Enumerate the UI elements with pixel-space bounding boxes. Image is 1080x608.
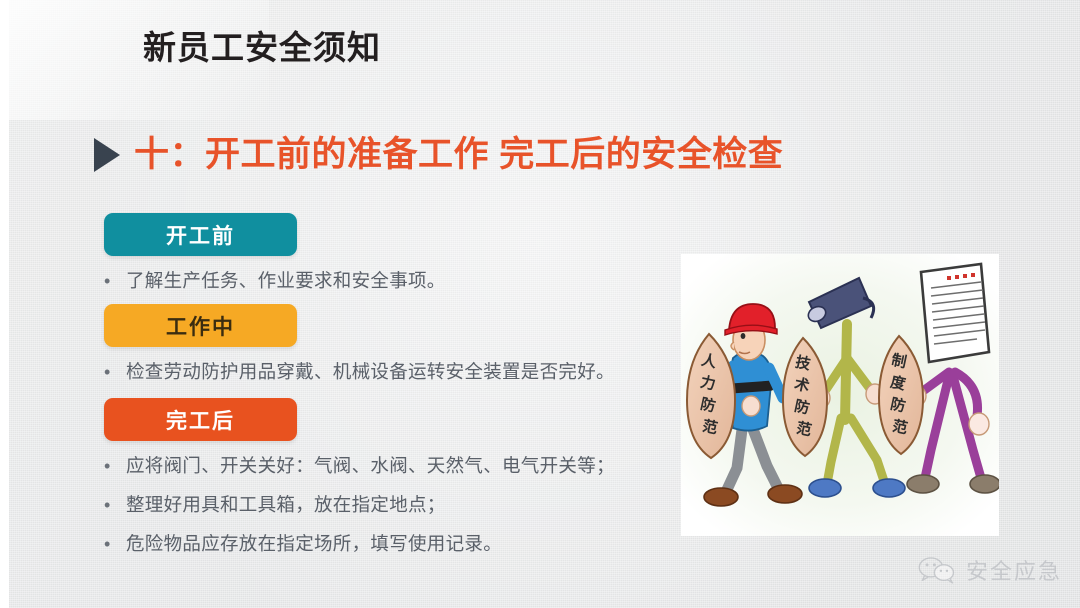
triangle-right-icon xyxy=(94,138,120,172)
badge-before-work-label: 开工前 xyxy=(166,220,235,250)
watermark: 安全应急 xyxy=(918,554,1062,586)
list-item: • 危险物品应存放在指定场所，填写使用记录。 xyxy=(104,531,502,557)
badge-during-work-label: 工作中 xyxy=(166,311,235,341)
bullet-marker-icon: • xyxy=(104,531,126,557)
section-heading: 十：开工前的准备工作 完工后的安全检查 xyxy=(94,133,783,177)
badge-during-work[interactable]: 工作中 xyxy=(104,304,297,347)
badge-before-work[interactable]: 开工前 xyxy=(104,213,297,256)
list-item: • 了解生产任务、作业要求和安全事项。 xyxy=(104,268,446,294)
list-item-text: 危险物品应存放在指定场所，填写使用记录。 xyxy=(126,531,502,557)
list-item-text: 检查劳动防护用品穿戴、机械设备运转安全装置是否完好。 xyxy=(126,359,615,385)
badge-after-work-label: 完工后 xyxy=(166,405,235,435)
badge-after-work[interactable]: 完工后 xyxy=(104,398,297,441)
page-title: 新员工安全须知 xyxy=(143,26,381,70)
bullet-marker-icon: • xyxy=(104,492,126,518)
list-item: • 应将阀门、开关关好：气阀、水阀、天然气、电气开关等； xyxy=(104,453,615,479)
list-item-text: 整理好用具和工具箱，放在指定地点； xyxy=(126,492,446,518)
slide-canvas: 新员工安全须知 十：开工前的准备工作 完工后的安全检查 开工前 工作中 完工后 … xyxy=(0,0,1080,608)
watermark-text: 安全应急 xyxy=(966,554,1062,586)
list-item-text: 应将阀门、开关关好：气阀、水阀、天然气、电气开关等； xyxy=(126,453,615,479)
list-item-text: 了解生产任务、作业要求和安全事项。 xyxy=(126,268,446,294)
section-heading-text: 十：开工前的准备工作 完工后的安全检查 xyxy=(134,133,783,177)
bullet-marker-icon: • xyxy=(104,359,126,385)
list-item: • 整理好用具和工具箱，放在指定地点； xyxy=(104,492,446,518)
left-margin-strip xyxy=(0,0,9,608)
bullet-marker-icon: • xyxy=(104,453,126,479)
wechat-icon xyxy=(918,556,956,584)
list-item: • 检查劳动防护用品穿戴、机械设备运转安全装置是否完好。 xyxy=(104,359,615,385)
illustration-image: 人 力 防 范 xyxy=(681,254,999,536)
bullet-marker-icon: • xyxy=(104,268,126,294)
